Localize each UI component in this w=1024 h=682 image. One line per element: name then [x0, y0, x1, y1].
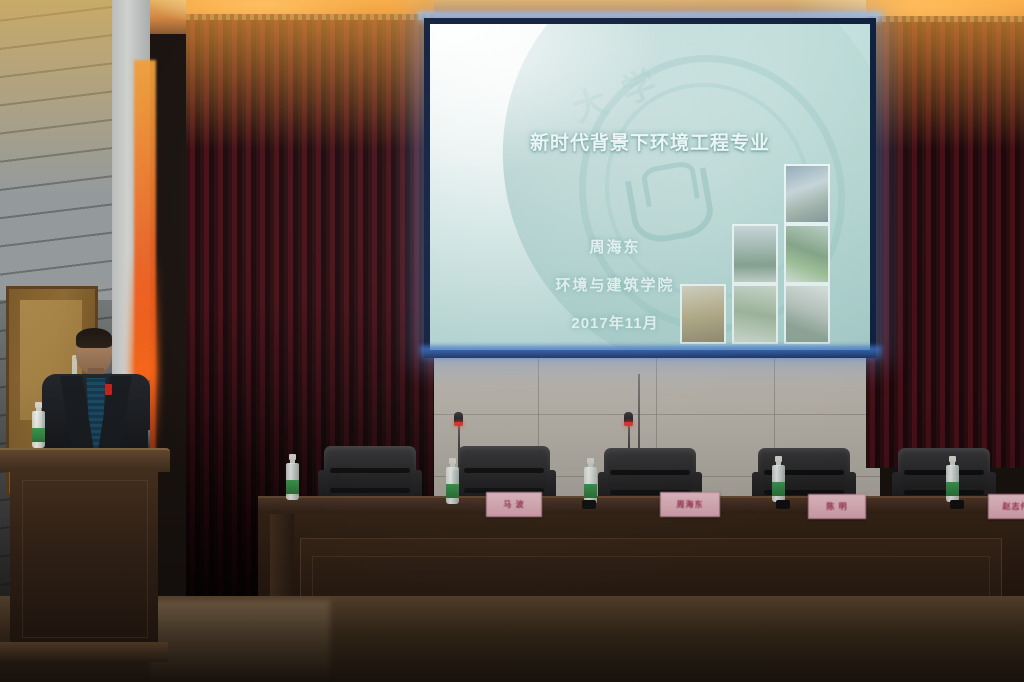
slide-presenter-name: 周海东: [450, 236, 780, 257]
table-control-unit-2[interactable]: [776, 500, 790, 509]
slide-thumbnail-1: [784, 164, 830, 224]
slide-date: 2017年11月: [450, 312, 780, 333]
screen-bottom-glow: [420, 346, 882, 362]
stage-curtain-right: [866, 16, 1024, 468]
water-bottle-3[interactable]: [772, 456, 785, 502]
curtain-rod-left: [186, 14, 434, 20]
curtain-rod-right: [866, 16, 1024, 22]
lecture-hall-photo: 大学 新时代背景下环境工程专业 周海东 环境与建筑学院 2017年11月: [0, 0, 1024, 682]
table-microphone-indicator-2: [624, 422, 633, 426]
slide-thumbnail-3: [784, 224, 830, 284]
speaker-badge: [105, 384, 112, 395]
water-bottle-1[interactable]: [446, 458, 459, 504]
projection-screen[interactable]: 大学 新时代背景下环境工程专业 周海东 环境与建筑学院 2017年11月: [430, 24, 870, 350]
slide-thumbnail-2: [732, 224, 778, 284]
slide-thumbnail-5: [732, 284, 778, 344]
lectern-front-panel: [22, 480, 148, 638]
floor-reflection: [150, 600, 330, 682]
name-placard-4[interactable]: 赵志伟: [988, 494, 1024, 519]
slide-title: 新时代背景下环境工程专业: [430, 128, 870, 155]
lectern-base: [0, 642, 168, 662]
water-bottle-4[interactable]: [946, 456, 959, 502]
speaker-hair: [76, 328, 112, 348]
podium-water-bottle[interactable]: [32, 402, 45, 448]
name-placard-2[interactable]: 周海东: [660, 492, 720, 517]
name-placard-3[interactable]: 陈 明: [808, 494, 866, 519]
slide-department: 环境与建筑学院: [450, 274, 780, 295]
water-bottle-2[interactable]: [584, 458, 597, 504]
table-control-unit-3[interactable]: [950, 500, 964, 509]
table-control-unit-1[interactable]: [582, 500, 596, 509]
name-placard-1[interactable]: 马 波: [486, 492, 542, 517]
slide-thumbnail-6: [784, 284, 830, 344]
water-bottle-left[interactable]: [286, 454, 299, 500]
slide-thumbnail-4: [680, 284, 726, 344]
table-microphone-indicator-1: [454, 422, 463, 426]
